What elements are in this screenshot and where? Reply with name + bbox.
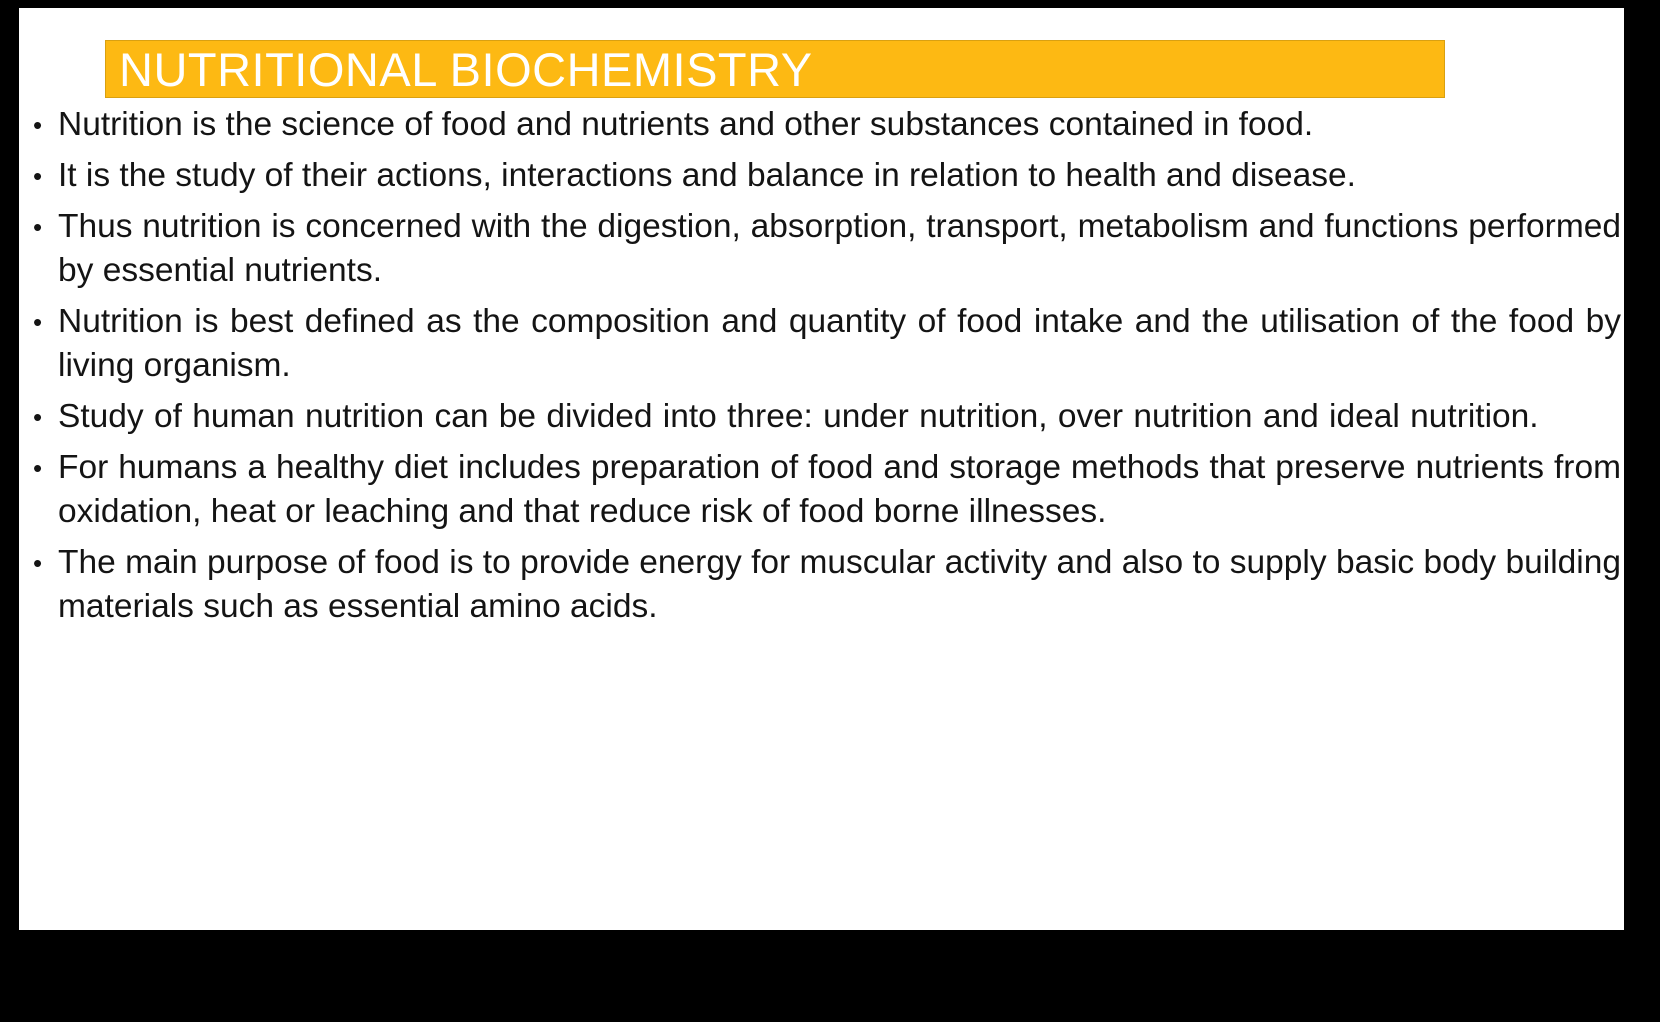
list-item: For humans a healthy diet includes prepa… [19,446,1624,534]
list-item: It is the study of their actions, intera… [19,154,1624,198]
page-title: NUTRITIONAL BIOCHEMISTRY [106,46,813,93]
list-item: Nutrition is best defined as the composi… [19,300,1624,388]
list-item: The main purpose of food is to provide e… [19,541,1624,629]
list-item: Nutrition is the science of food and nut… [19,103,1624,147]
bullet-list: Nutrition is the science of food and nut… [19,103,1624,636]
list-item: Thus nutrition is concerned with the dig… [19,205,1624,293]
bullet-text: Study of human nutrition can be divided … [58,395,1621,439]
bullet-text: Thus nutrition is concerned with the dig… [58,205,1621,293]
bullet-text: The main purpose of food is to provide e… [58,541,1621,629]
bullet-text: Nutrition is best defined as the composi… [58,300,1621,388]
bullet-text: For humans a healthy diet includes prepa… [58,446,1621,534]
bullet-text: It is the study of their actions, intera… [58,154,1621,198]
slide-canvas: NUTRITIONAL BIOCHEMISTRY Nutrition is th… [19,8,1624,930]
list-item: Study of human nutrition can be divided … [19,395,1624,439]
title-banner: NUTRITIONAL BIOCHEMISTRY [105,40,1445,98]
slide-frame: NUTRITIONAL BIOCHEMISTRY Nutrition is th… [0,0,1660,1022]
bullet-text: Nutrition is the science of food and nut… [58,103,1621,147]
